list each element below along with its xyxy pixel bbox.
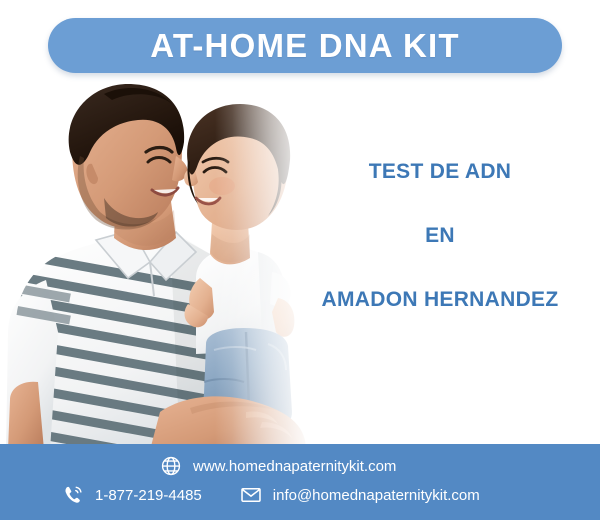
headline-line-1: TEST DE ADN — [290, 160, 590, 184]
page-title: AT-HOME DNA KIT — [150, 29, 459, 62]
family-photo-illustration — [0, 82, 330, 450]
globe-icon — [160, 455, 182, 477]
phone-item[interactable]: 1-877-219-4485 — [62, 484, 202, 506]
email-item[interactable]: info@homednapaternitykit.com — [240, 484, 480, 506]
headline-line-3: AMADON HERNANDEZ — [290, 288, 590, 312]
footer-contact-row: 1-877-219-4485 info@homednapaternitykit.… — [62, 484, 480, 506]
poster: AT-HOME DNA KIT — [0, 0, 600, 520]
envelope-icon — [240, 484, 262, 506]
family-photo — [0, 82, 330, 450]
phone-icon — [62, 484, 84, 506]
phone-label: 1-877-219-4485 — [95, 488, 202, 503]
headline-line-2: EN — [290, 224, 590, 248]
footer-website-row: www.homednapaternitykit.com — [160, 455, 396, 477]
footer-bar: www.homednapaternitykit.com 1-877-219-44… — [0, 444, 600, 520]
header-banner: AT-HOME DNA KIT — [48, 18, 562, 73]
website-item[interactable]: www.homednapaternitykit.com — [160, 455, 396, 477]
website-label: www.homednapaternitykit.com — [193, 459, 396, 474]
email-label: info@homednapaternitykit.com — [273, 488, 480, 503]
headline-block: TEST DE ADN EN AMADON HERNANDEZ — [290, 160, 590, 312]
